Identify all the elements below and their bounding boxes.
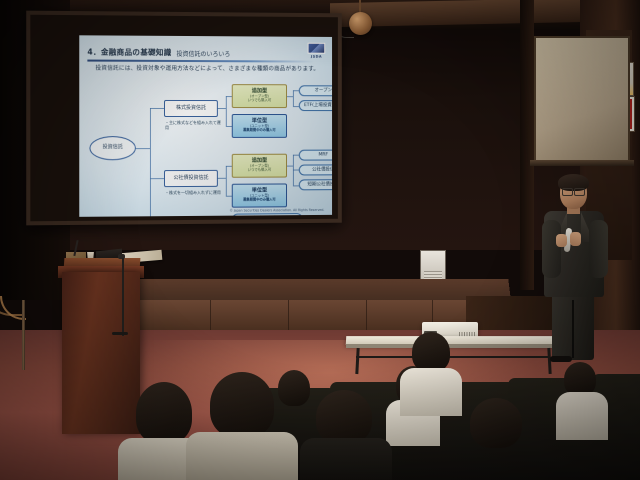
connector (150, 108, 151, 217)
whiteboard-ledge (530, 160, 634, 166)
type-desc: いつでも購入可 (248, 169, 271, 173)
slide-footer: © Japan Securities Dealers Association. … (230, 208, 325, 213)
diagram-root-node: 投資信託 (89, 136, 135, 160)
type-desc: 募集期間中のみ購入可 (243, 199, 276, 203)
presenter-hand-left (556, 234, 567, 247)
audience-head (470, 398, 522, 448)
audience-member (556, 362, 608, 432)
presenter (532, 176, 616, 364)
connector (150, 178, 164, 179)
leaf-node-short-bond-trust: 短期公社債投信 (299, 179, 332, 190)
microphone-stand (122, 258, 124, 336)
presentation-slide: 4．金融商品の基礎知識 投資信託のいろいろ JSDA 投資信託には、投資対象や運… (79, 35, 332, 217)
slide-subtitle: 投資信託のいろいろ (177, 49, 231, 58)
audience-body (556, 392, 608, 440)
connector (218, 178, 226, 179)
branch-note-bond: ・株式を一切組み入れずに運用 (165, 190, 221, 195)
audience-member (456, 398, 540, 480)
type-node-unit-equity: 単位型 (ユニット型) 募集期間中のみ購入可 (232, 114, 287, 138)
audience-head (316, 390, 372, 444)
audience-head (412, 332, 450, 372)
jsda-logo-text: JSDA (311, 54, 322, 58)
audience-head (564, 362, 596, 396)
branch-node-equity: 株式投資信託 (164, 100, 218, 117)
jsda-mark-icon (308, 43, 326, 54)
type-node-additional-equity: 追加型 (オープン型) いつでも購入可 (232, 84, 287, 108)
slide-header: 4．金融商品の基礎知識 投資信託のいろいろ (87, 43, 324, 58)
audience-member (300, 390, 392, 480)
presenter-arm-right (589, 220, 608, 278)
audience-member (400, 332, 462, 410)
leaf-node-etf: ETF(上場投資信託) (299, 100, 332, 111)
branch-node-bond: 公社債投資信託 (164, 170, 218, 187)
leaf-node-bond-trust: 公社債投信 (299, 164, 332, 175)
slide-title: 4．金融商品の基礎知識 (87, 46, 171, 57)
connector (226, 96, 227, 126)
whiteboard (534, 36, 630, 164)
leaf-node-mrf: MRF (299, 150, 332, 161)
stanchion-post (22, 300, 25, 370)
type-desc: いつでも購入可 (248, 100, 271, 104)
connector (226, 166, 227, 196)
audience-head (210, 372, 274, 438)
jsda-logo: JSDA (307, 43, 327, 60)
audience-body (400, 368, 462, 416)
audience-head (136, 382, 192, 444)
type-desc: 募集期間中のみ購入可 (243, 129, 276, 133)
connector (136, 148, 150, 149)
investment-trust-diagram: 投資信託 株式投資信託 ・主に株式などを組み入れて運用 公社債投資信託 ・株式を… (85, 78, 328, 205)
audience-body (186, 432, 298, 480)
microphone-stand-base (112, 332, 128, 335)
presenter-hand-right (570, 232, 581, 246)
audience-body (300, 438, 392, 480)
seminar-room-photo: 禁煙 4．金融商品の基礎知識 投資信託のいろいろ JSDA 投資信託には、投資対… (0, 0, 640, 480)
slide-lead-text: 投資信託には、投資対象や運用方法などによって、さまざまな種類の商品があります。 (95, 66, 322, 74)
connector (150, 108, 164, 109)
screen-surface: 4．金融商品の基礎知識 投資信託のいろいろ JSDA 投資信託には、投資対象や運… (30, 15, 338, 222)
type-node-unit-bond: 単位型 (ユニット型) 募集期間中のみ購入可 (232, 183, 287, 207)
type-node-additional-bond: 追加型 (オープン型) いつでも購入可 (232, 154, 287, 178)
leaf-node-securities-corp: 証券投資法人 (232, 213, 303, 217)
projection-screen: 4．金融商品の基礎知識 投資信託のいろいろ JSDA 投資信託には、投資対象や運… (26, 11, 342, 226)
presenter-leg-seam (572, 300, 574, 358)
presenter-arm-left (542, 220, 561, 278)
connector (218, 108, 226, 109)
audience-member (186, 372, 298, 480)
branch-note-equity: ・主に株式などを組み入れて運用 (165, 120, 221, 130)
title-underline (87, 60, 314, 63)
leaf-node-open: オープン (299, 85, 332, 96)
branch-node-corporation: 投資法人 (164, 216, 218, 217)
connector (293, 90, 294, 106)
glasses-icon (562, 188, 585, 194)
